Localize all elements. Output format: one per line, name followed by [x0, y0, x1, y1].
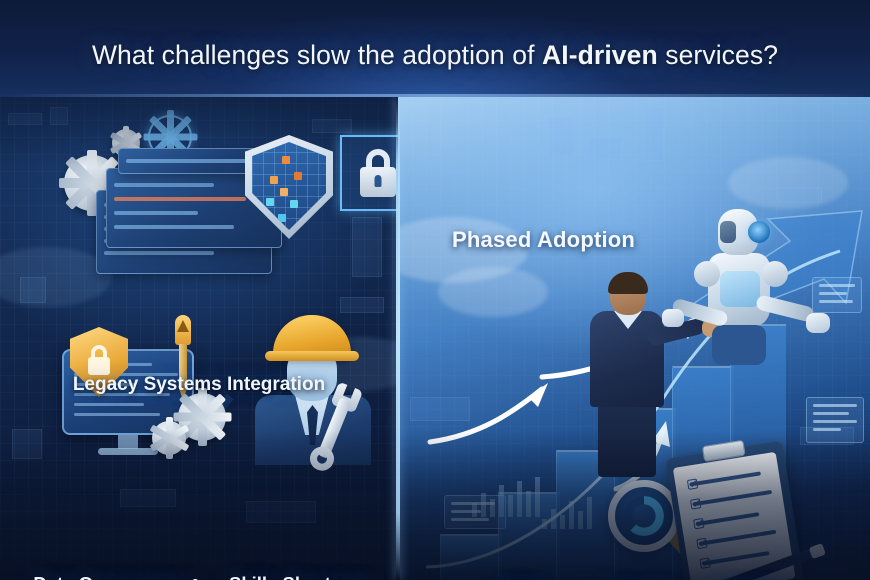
header-band: What challenges slow the adoption of AI-…	[0, 0, 870, 97]
label-skills-shortages: Skills Shortages Automation & AI Governa…	[206, 574, 396, 580]
label-legacy-line1: Legacy Systems Integration	[73, 374, 325, 395]
humanoid-robot-figure	[686, 209, 796, 369]
label-data-line1: Data Governance	[33, 573, 185, 580]
title-emphasis: AI-driven	[542, 40, 658, 70]
label-skills-line1: Skills Shortages	[229, 573, 373, 580]
panel-divider	[396, 97, 400, 580]
padlock-frame-icon	[340, 135, 398, 211]
content-stage: Legacy Systems Integration	[0, 97, 870, 580]
infographic-poster: What challenges slow the adoption of AI-…	[0, 0, 870, 580]
title-pre: What challenges slow the adoption of	[92, 40, 542, 70]
label-legacy-systems: Legacy Systems Integration	[0, 375, 398, 396]
bottom-fade-left	[0, 430, 398, 580]
challenges-panel: Legacy Systems Integration	[0, 97, 398, 580]
page-title: What challenges slow the adoption of AI-…	[0, 40, 870, 71]
phased-adoption-heading: Phased Adoption	[452, 227, 635, 253]
bottom-fade-right	[398, 430, 870, 580]
label-data-governance: Data Governance & cyperseciency	[6, 574, 228, 580]
shield-grid-icon	[245, 135, 333, 239]
title-post: services?	[658, 40, 778, 70]
